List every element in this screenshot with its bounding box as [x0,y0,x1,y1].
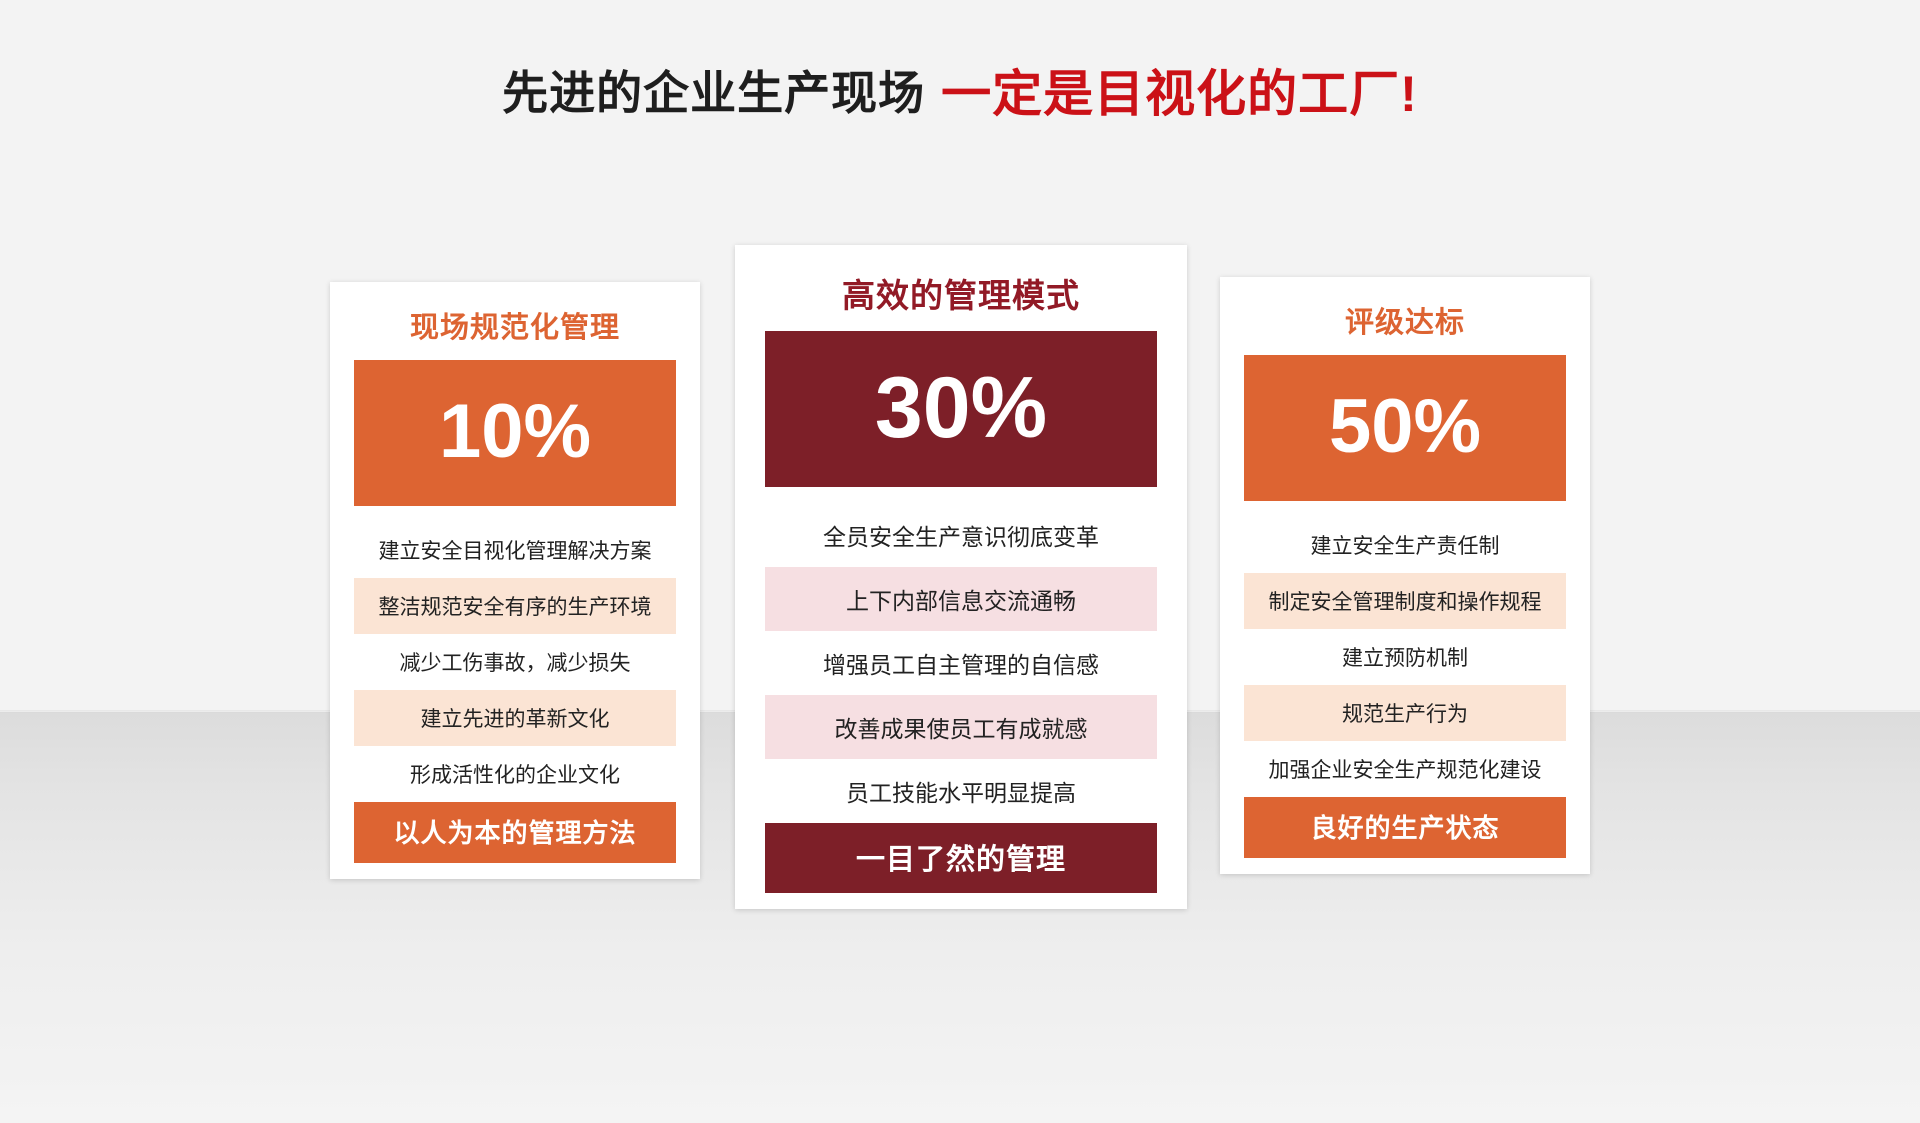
list-item: 规范生产行为 [1244,685,1566,741]
card-heading: 高效的管理模式 [735,245,1187,331]
list-item: 增强员工自主管理的自信感 [765,631,1157,695]
list-item: 员工技能水平明显提高 [765,759,1157,823]
list-item: 建立先进的革新文化 [354,690,676,746]
list-item: 加强企业安全生产规范化建设 [1244,741,1566,797]
card-footer-banner: 以人为本的管理方法 [354,802,676,863]
card-percent-block: 30% [765,331,1157,487]
list-item: 建立安全生产责任制 [1244,517,1566,573]
card-efficient-management[interactable]: 高效的管理模式 30% 全员安全生产意识彻底变革 上下内部信息交流通畅 增强员工… [735,245,1187,909]
list-item: 减少工伤事故，减少损失 [354,634,676,690]
card-percent-block: 50% [1244,355,1566,501]
card-site-standardization[interactable]: 现场规范化管理 10% 建立安全目视化管理解决方案 整洁规范安全有序的生产环境 … [330,282,700,879]
list-item: 形成活性化的企业文化 [354,746,676,802]
card-footer-banner: 良好的生产状态 [1244,797,1566,858]
list-item: 建立预防机制 [1244,629,1566,685]
list-item: 改善成果使员工有成就感 [765,695,1157,759]
list-item: 建立安全目视化管理解决方案 [354,522,676,578]
cards-container: 现场规范化管理 10% 建立安全目视化管理解决方案 整洁规范安全有序的生产环境 … [0,0,1920,1123]
card-row-list: 全员安全生产意识彻底变革 上下内部信息交流通畅 增强员工自主管理的自信感 改善成… [765,503,1157,823]
list-item: 整洁规范安全有序的生产环境 [354,578,676,634]
list-item: 制定安全管理制度和操作规程 [1244,573,1566,629]
card-rating-compliance[interactable]: 评级达标 50% 建立安全生产责任制 制定安全管理制度和操作规程 建立预防机制 … [1220,277,1590,874]
card-heading: 现场规范化管理 [330,282,700,360]
list-item: 上下内部信息交流通畅 [765,567,1157,631]
card-footer-banner: 一目了然的管理 [765,823,1157,893]
card-row-list: 建立安全目视化管理解决方案 整洁规范安全有序的生产环境 减少工伤事故，减少损失 … [354,522,676,802]
card-percent-block: 10% [354,360,676,506]
card-heading: 评级达标 [1220,277,1590,355]
card-row-list: 建立安全生产责任制 制定安全管理制度和操作规程 建立预防机制 规范生产行为 加强… [1244,517,1566,797]
list-item: 全员安全生产意识彻底变革 [765,503,1157,567]
